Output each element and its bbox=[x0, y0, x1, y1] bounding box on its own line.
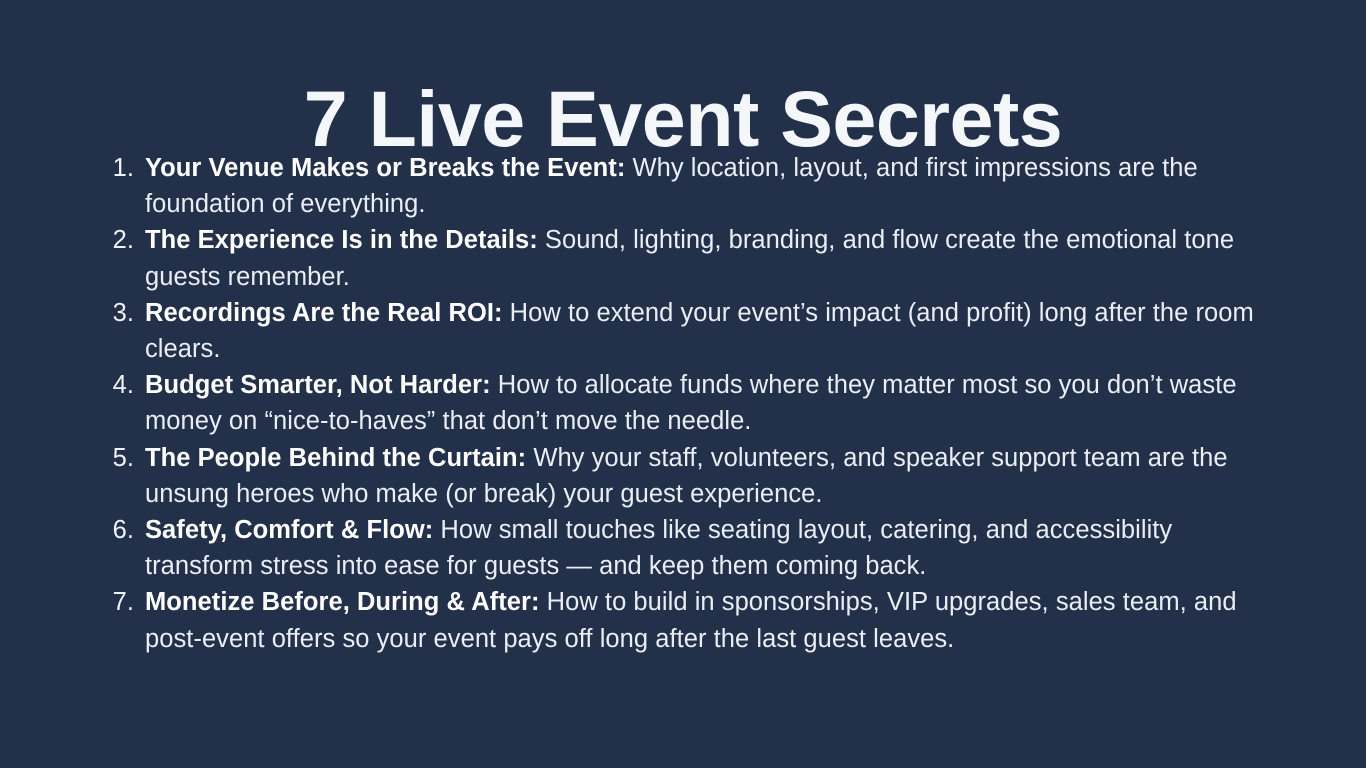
list-item-number: 6. bbox=[104, 512, 134, 548]
list-item-number: 5. bbox=[104, 440, 134, 476]
list-item: 7.Monetize Before, During & After: How t… bbox=[104, 584, 1279, 656]
list-item-lead: Your Venue Makes or Breaks the Event: bbox=[145, 154, 625, 182]
list-item: 1.Your Venue Makes or Breaks the Event: … bbox=[104, 150, 1279, 222]
list-item-lead: The Experience Is in the Details: bbox=[145, 226, 538, 254]
list-item-number: 3. bbox=[104, 295, 134, 331]
list-item-lead: Monetize Before, During & After: bbox=[145, 588, 540, 616]
list-item-number: 1. bbox=[104, 150, 134, 186]
list-item: 2.The Experience Is in the Details: Soun… bbox=[104, 222, 1279, 294]
list-item: 5.The People Behind the Curtain: Why you… bbox=[104, 440, 1279, 512]
list-item-number: 4. bbox=[104, 367, 134, 403]
list-item-lead: Budget Smarter, Not Harder: bbox=[145, 371, 491, 399]
list-item: 3.Recordings Are the Real ROI: How to ex… bbox=[104, 295, 1279, 367]
presentation-slide: 7 Live Event Secrets 1.Your Venue Makes … bbox=[0, 0, 1366, 768]
page-title: 7 Live Event Secrets bbox=[0, 79, 1366, 158]
list-item-number: 7. bbox=[104, 584, 134, 620]
secrets-list: 1.Your Venue Makes or Breaks the Event: … bbox=[104, 150, 1279, 657]
list-item: 6.Safety, Comfort & Flow: How small touc… bbox=[104, 512, 1279, 584]
list-item-lead: The People Behind the Curtain: bbox=[145, 444, 526, 472]
list-item: 4.Budget Smarter, Not Harder: How to all… bbox=[104, 367, 1279, 439]
list-item-lead: Safety, Comfort & Flow: bbox=[145, 516, 433, 544]
list-item-number: 2. bbox=[104, 222, 134, 258]
list-item-lead: Recordings Are the Real ROI: bbox=[145, 299, 503, 327]
